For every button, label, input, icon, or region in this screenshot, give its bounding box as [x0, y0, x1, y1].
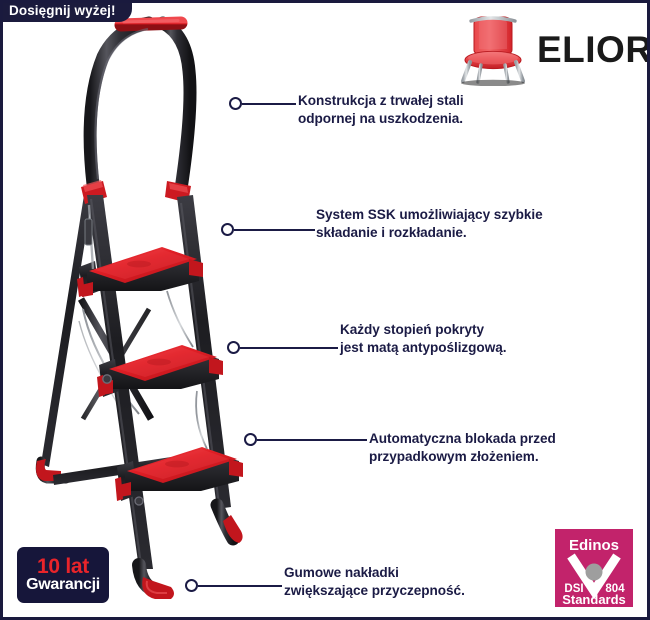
red-chair-icon	[457, 12, 529, 86]
headline-banner-text: Dosięgnij wyżej!	[9, 3, 116, 18]
callout-auto-lock-text: Automatyczna blokada przed przypadkowym …	[369, 430, 556, 466]
edinos-standards-icon: Edinos DSI 804 Standards	[555, 529, 633, 607]
callout-ssk-system: System SSK umożliwiający szybkie składan…	[316, 206, 543, 242]
callout-anti-slip-mat-text: Każdy stopień pokryty jest matą antypośl…	[340, 321, 506, 357]
warranty-badge: 10 lat Gwarancji	[17, 547, 109, 603]
headline-banner: Dosięgnij wyżej!	[0, 0, 132, 22]
infographic-root: Dosięgnij wyżej!	[0, 0, 650, 620]
callout-auto-lock: Automatyczna blokada przed przypadkowym …	[369, 430, 556, 466]
warranty-label: Gwarancji	[26, 577, 100, 594]
callout-rubber-feet-text: Gumowe nakładki zwiększające przyczepnoś…	[284, 564, 465, 600]
callout-construction-text: Konstrukcja z trwałej stali odpornej na …	[298, 92, 464, 128]
callout-ssk-system-text: System SSK umożliwiający szybkie składan…	[316, 206, 543, 242]
warranty-years: 10 lat	[37, 556, 89, 577]
callout-rubber-feet: Gumowe nakładki zwiększające przyczepnoś…	[284, 564, 465, 600]
cert-title: Edinos	[569, 537, 619, 554]
cert-standards: Standards	[562, 592, 626, 607]
certification-badge: Edinos DSI 804 Standards	[555, 529, 633, 607]
callout-construction: Konstrukcja z trwałej stali odpornej na …	[298, 92, 464, 128]
brand-name: ELIOR	[537, 31, 650, 68]
brand-logo: ELIOR	[457, 11, 635, 87]
callout-anti-slip-mat: Każdy stopień pokryty jest matą antypośl…	[340, 321, 506, 357]
